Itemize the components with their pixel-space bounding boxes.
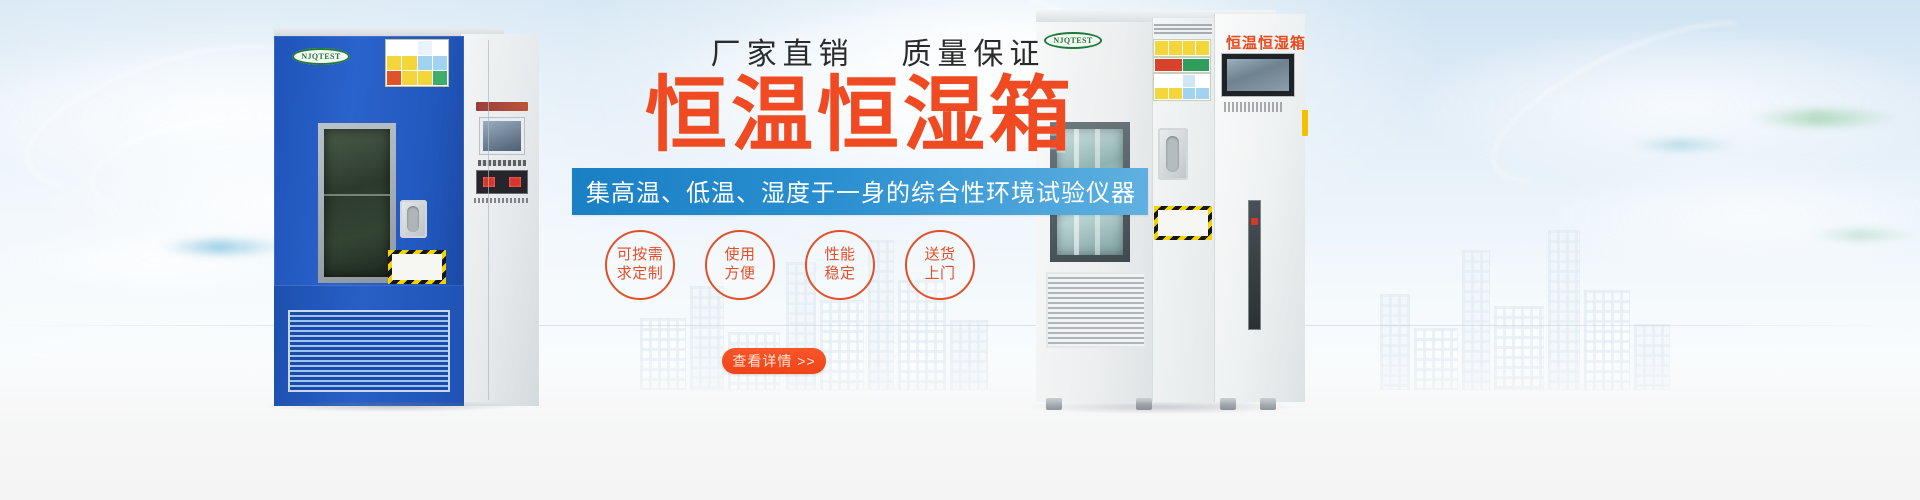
yellow-marker xyxy=(1302,110,1308,136)
product-banner: NJQTEST NJ xyxy=(0,0,1920,500)
feature-line-2: 求定制 xyxy=(617,265,664,284)
eyebrow-left-text: 厂家直销 xyxy=(711,38,855,71)
manufacturer-text-strip xyxy=(1224,102,1284,112)
view-details-button[interactable]: 查看详情 >> xyxy=(722,348,826,374)
controller-display xyxy=(1222,54,1294,96)
warning-label-sticker xyxy=(1154,40,1210,56)
feature-line-2: 稳定 xyxy=(824,265,855,284)
brand-logo-badge: NJQTEST xyxy=(292,48,350,65)
feature-circle-custom[interactable]: 可按需 求定制 xyxy=(605,230,675,300)
page-title: 恒温恒湿箱 xyxy=(560,74,1160,158)
color-streak xyxy=(1810,230,1920,240)
feature-line-1: 可按需 xyxy=(617,246,664,265)
headline-copy-block: 厂家直销 质量保证 恒温恒湿箱 集高温、低温、湿度于一身的综合性环境试验仪器 xyxy=(560,40,1160,215)
hazard-stripe-label xyxy=(1154,206,1212,240)
controller-keypad xyxy=(476,170,528,194)
chamber-vent-grille xyxy=(288,310,450,392)
feature-circle-easy-use[interactable]: 使用 方便 xyxy=(705,230,775,300)
feature-line-2: 方便 xyxy=(724,265,755,284)
controller-display xyxy=(480,118,524,154)
color-streak xyxy=(1630,140,1740,150)
hazard-stripe-label xyxy=(388,250,446,284)
chamber-control-column xyxy=(460,34,539,406)
feature-line-1: 使用 xyxy=(724,246,755,265)
feature-line-1: 送货 xyxy=(924,246,955,265)
control-panel-nameplate xyxy=(476,102,528,111)
eyebrow-tagline: 厂家直销 质量保证 xyxy=(560,40,1160,70)
chamber-door-handle xyxy=(400,200,427,238)
chamber-door-handle xyxy=(1158,128,1188,180)
chamber-glass xyxy=(324,129,390,277)
feature-circle-delivery[interactable]: 送货 上门 xyxy=(905,230,975,300)
chamber-vent-grille xyxy=(1046,272,1146,348)
eyebrow-right-text: 质量保证 xyxy=(901,38,1045,71)
chamber-top-vents xyxy=(1154,24,1212,36)
feature-line-1: 性能 xyxy=(824,246,855,265)
warning-label-sticker xyxy=(386,40,448,86)
product-photo-left-chamber: NJQTEST xyxy=(248,28,538,408)
panel-seam xyxy=(488,40,489,400)
warning-label-sticker xyxy=(1154,58,1210,72)
feature-circle-list: 可按需 求定制 使用 方便 性能 稳定 送货 上门 xyxy=(605,230,975,300)
chamber-base-shadow xyxy=(266,402,516,412)
chamber-model-nameplate: 恒温恒湿箱 xyxy=(1226,32,1306,53)
subtitle-banner: 集高温、低温、湿度于一身的综合性环境试验仪器 xyxy=(572,168,1148,215)
feature-line-2: 上门 xyxy=(924,265,955,284)
chamber-viewport xyxy=(318,123,396,283)
side-indicator-strip xyxy=(1248,200,1261,330)
color-streak xyxy=(1750,110,1900,126)
feature-circle-stable[interactable]: 性能 稳定 xyxy=(805,230,875,300)
chamber-base-shadow xyxy=(1030,402,1292,414)
controller-label-strip xyxy=(478,160,526,166)
manufacturer-text-strip xyxy=(474,198,530,203)
warning-label-sticker xyxy=(1154,74,1210,100)
